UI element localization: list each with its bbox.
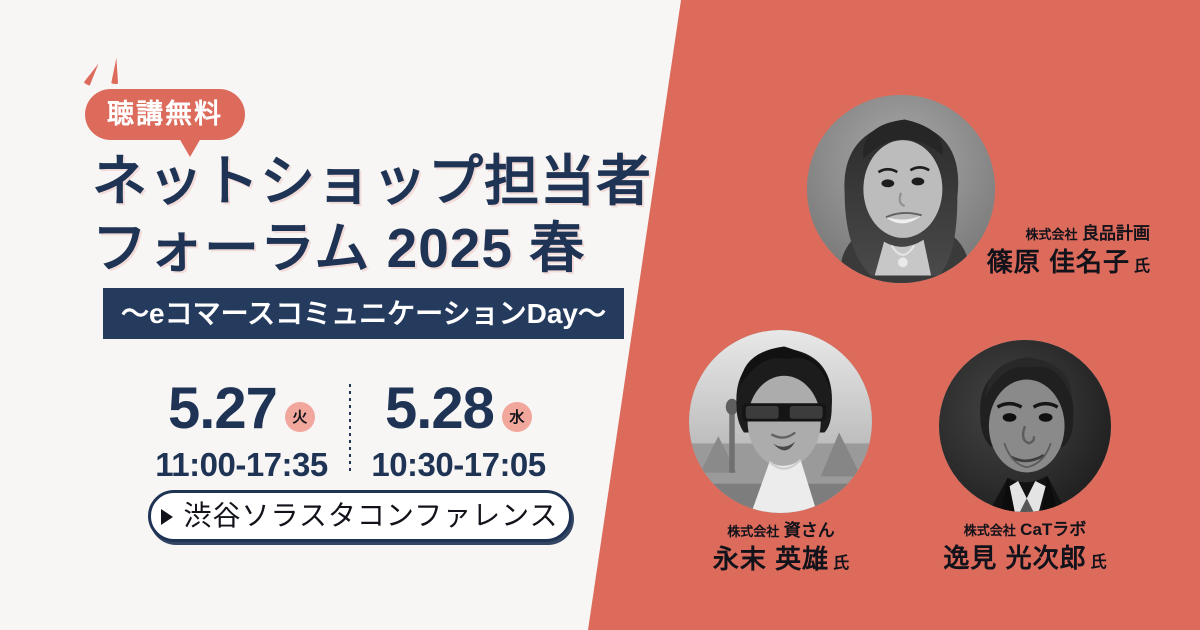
date-number-1: 5.27 bbox=[168, 380, 277, 438]
day-of-week-label-1: 火 bbox=[292, 410, 307, 425]
speaker-company-prefix-3: 株式会社 bbox=[964, 523, 1016, 538]
speaker-card-3: 株式会社 CaTラボ 逸見 光次郎氏 bbox=[920, 340, 1130, 574]
speaker-person-name-3: 逸見 光次郎 bbox=[943, 543, 1086, 573]
date-time-2: 10:30-17:05 bbox=[371, 448, 545, 481]
tick-mark-left-icon bbox=[83, 62, 101, 86]
date-heading-1: 5.27 火 bbox=[168, 378, 315, 440]
subtitle-label: 〜eコマースコミュニケーションDay〜 bbox=[121, 300, 606, 328]
speaker-company-prefix-1: 株式会社 bbox=[1026, 227, 1078, 242]
speaker-name-row-3: 逸見 光次郎氏 bbox=[920, 544, 1130, 574]
speaker-company-prefix-2: 株式会社 bbox=[727, 524, 779, 539]
day-of-week-badge-1: 火 bbox=[285, 402, 315, 432]
badge-label: 聴講無料 bbox=[107, 101, 223, 128]
speaker-caption-2: 株式会社 資さん 永末 英雄氏 bbox=[676, 522, 886, 575]
speaker-person-name-2: 永末 英雄 bbox=[713, 544, 829, 574]
title-line-1: ネットショップ担当者 bbox=[92, 148, 652, 215]
tick-mark-right-icon bbox=[111, 58, 120, 84]
date-heading-2: 5.28 水 bbox=[385, 378, 532, 440]
speaker-name-row-2: 永末 英雄氏 bbox=[676, 545, 886, 575]
speaker-company-1: 株式会社 良品計画 bbox=[940, 225, 1150, 244]
speaker-photo-3 bbox=[939, 340, 1111, 512]
left-info-column: 聴講無料 ネットショップ担当者 フォーラム 2025 春 〜eコマースコミュニケ… bbox=[0, 0, 660, 630]
title-line-2: フォーラム 2025 春 bbox=[92, 215, 652, 282]
speaker-honorific-1: 氏 bbox=[1134, 258, 1150, 275]
speaker-caption-1: 株式会社 良品計画 篠原 佳名子氏 bbox=[940, 225, 1150, 278]
date-entry-2: 5.28 水 10:30-17:05 bbox=[351, 378, 566, 481]
speaker-card-2: 株式会社 資さん 永末 英雄氏 bbox=[676, 330, 886, 575]
speaker-company-name-2: 資さん bbox=[784, 521, 835, 540]
speaker-honorific-2: 氏 bbox=[833, 555, 849, 572]
event-dates: 5.27 火 11:00-17:35 5.28 水 10:30-17:05 bbox=[120, 378, 580, 481]
free-admission-badge: 聴講無料 bbox=[85, 56, 385, 152]
sparkle-ticks-icon bbox=[85, 56, 165, 90]
speaker-person-name-1: 篠原 佳名子 bbox=[987, 247, 1130, 277]
speaker-company-name-3: CaTラボ bbox=[1020, 520, 1086, 539]
event-poster: 聴講無料 ネットショップ担当者 フォーラム 2025 春 〜eコマースコミュニケ… bbox=[0, 0, 1200, 630]
speaker-company-name-1: 良品計画 bbox=[1082, 224, 1150, 243]
speaker-company-2: 株式会社 資さん bbox=[676, 522, 886, 541]
speaker-card-1: 株式会社 良品計画 篠原 佳名子氏 bbox=[790, 95, 1150, 283]
date-time-1: 11:00-17:35 bbox=[155, 448, 327, 481]
date-entry-1: 5.27 火 11:00-17:35 bbox=[134, 378, 349, 481]
speaker-company-3: 株式会社 CaTラボ bbox=[920, 521, 1130, 540]
day-of-week-label-2: 水 bbox=[509, 410, 524, 425]
subtitle-bar: 〜eコマースコミュニケーションDay〜 bbox=[103, 288, 624, 339]
badge-bubble: 聴講無料 bbox=[85, 89, 245, 140]
speaker-caption-3: 株式会社 CaTラボ 逸見 光次郎氏 bbox=[920, 521, 1130, 574]
speaker-photo-2 bbox=[689, 330, 872, 513]
date-number-2: 5.28 bbox=[385, 380, 494, 438]
venue-name: 渋谷ソラスタコンファレンス bbox=[183, 502, 558, 530]
speaker-name-row-1: 篠原 佳名子氏 bbox=[940, 248, 1150, 278]
play-triangle-icon bbox=[161, 509, 173, 525]
day-of-week-badge-2: 水 bbox=[502, 402, 532, 432]
venue-pill[interactable]: 渋谷ソラスタコンファレンス bbox=[148, 490, 572, 542]
speaker-honorific-3: 氏 bbox=[1091, 554, 1107, 571]
page-title: ネットショップ担当者 フォーラム 2025 春 bbox=[92, 148, 652, 282]
